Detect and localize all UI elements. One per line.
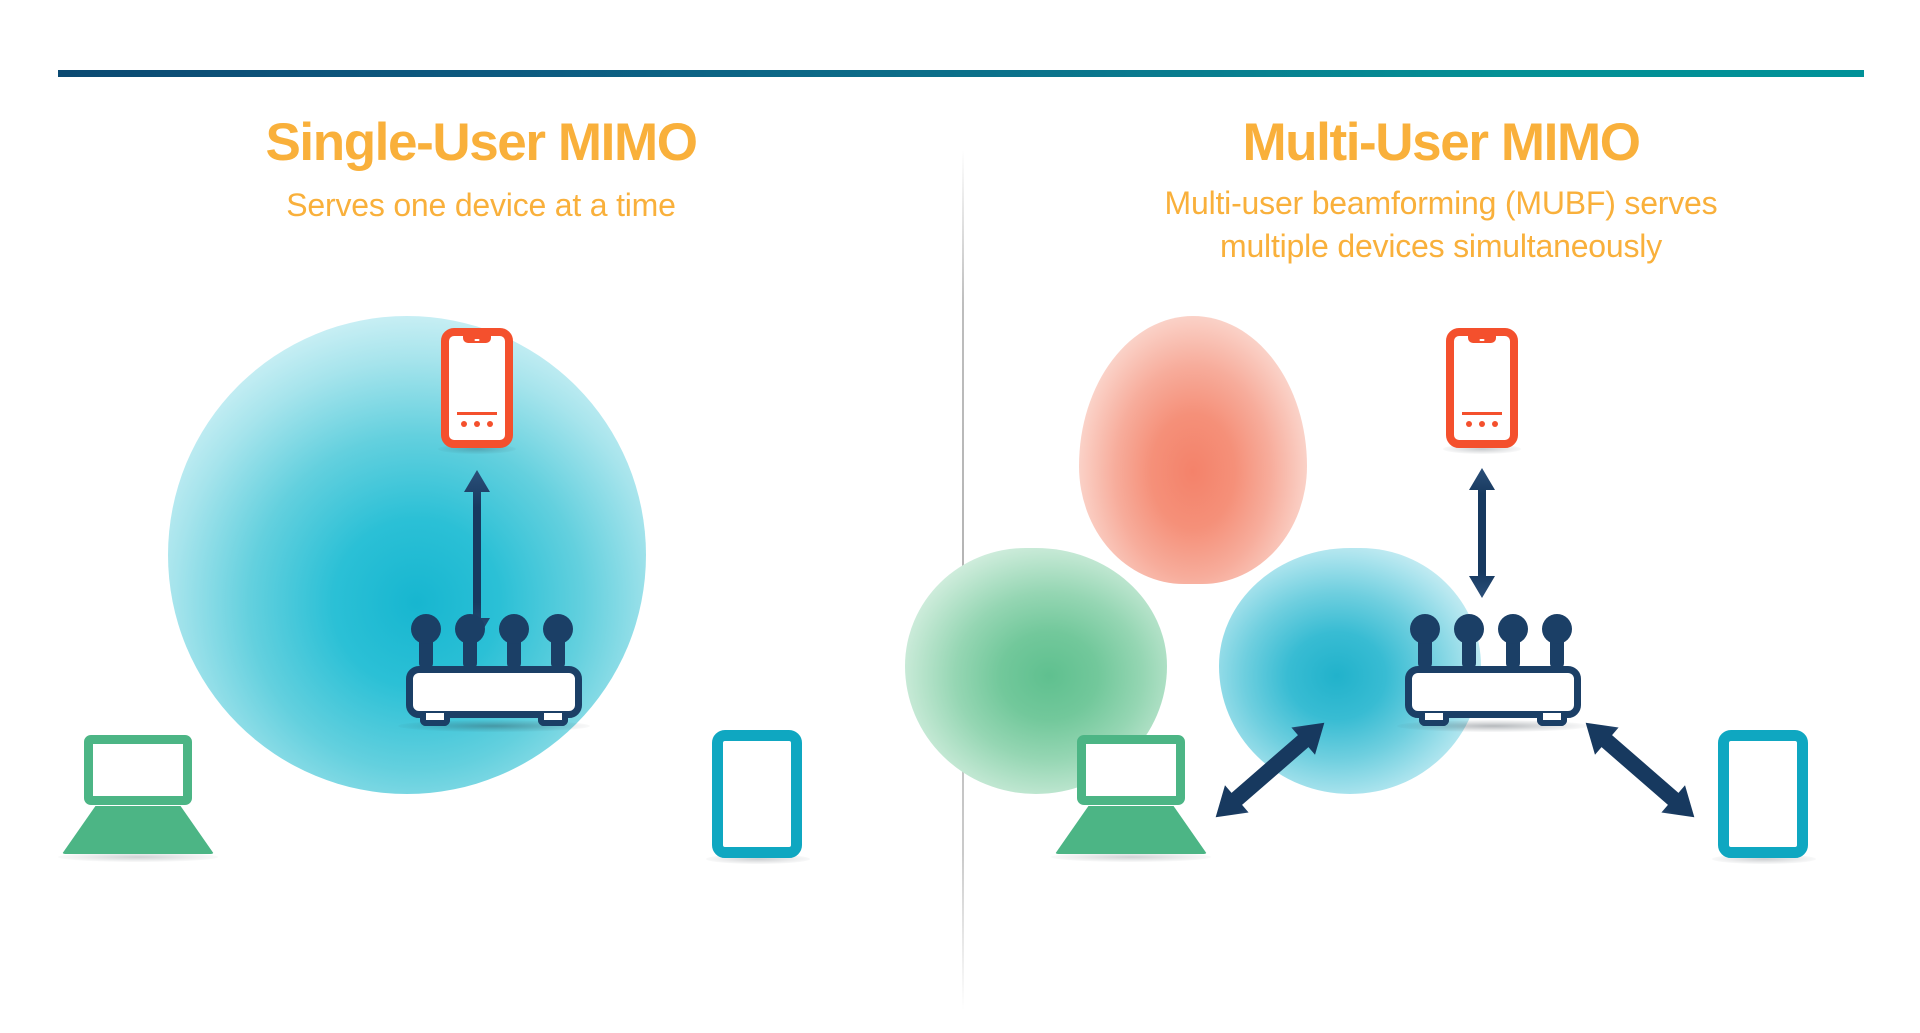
right-smartphone-button-bar xyxy=(1462,412,1502,432)
left-laptop-base xyxy=(62,806,214,854)
right-router-device xyxy=(1405,610,1581,726)
right-router-foot-right xyxy=(1537,713,1567,726)
left-smartphone-button-bar xyxy=(457,412,497,432)
left-router-body xyxy=(406,666,582,718)
left-router-antenna-3 xyxy=(507,618,521,670)
top-gradient-rule xyxy=(58,70,1864,77)
diagram-canvas: Single-User MIMO Serves one device at a … xyxy=(0,0,1920,1033)
left-router-antenna-2 xyxy=(463,618,477,670)
left-panel-subtitle: Serves one device at a time xyxy=(0,184,962,227)
left-smartphone-screen xyxy=(441,328,513,448)
right-panel-subtitle: Multi-user beamforming (MUBF) serves mul… xyxy=(962,182,1920,267)
left-router-antenna-4 xyxy=(551,618,565,670)
right-router-antenna-3 xyxy=(1506,618,1520,670)
right-tablet-home-button-icon xyxy=(1759,836,1767,844)
right-router-body xyxy=(1405,666,1581,718)
left-tablet-device xyxy=(712,730,802,858)
right-smartphone-screen xyxy=(1446,328,1518,448)
left-router-antenna-1 xyxy=(419,618,433,670)
left-panel-title: Single-User MIMO xyxy=(0,115,962,170)
left-router-device xyxy=(406,610,582,726)
right-panel-subtitle-line2: multiple devices simultaneously xyxy=(962,225,1920,268)
left-tablet-screen xyxy=(712,730,802,858)
right-router-antenna-1 xyxy=(1418,618,1432,670)
left-router-foot-right xyxy=(538,713,568,726)
left-smartphone-notch xyxy=(463,336,491,343)
right-tablet-screen xyxy=(1718,730,1808,858)
left-laptop-screen xyxy=(84,735,192,805)
right-panel-subtitle-line1: Multi-user beamforming (MUBF) serves xyxy=(962,182,1920,225)
right-link-arrow-router-to-phone xyxy=(1460,468,1504,598)
right-link-arrow-router-to-laptop xyxy=(1190,700,1350,840)
left-laptop-device xyxy=(62,735,214,859)
right-router-antenna-4 xyxy=(1550,618,1564,670)
right-smartphone-device xyxy=(1446,328,1518,448)
right-smartphone-notch xyxy=(1468,336,1496,343)
left-tablet-home-button-icon xyxy=(753,836,761,844)
right-link-arrow-router-to-tablet xyxy=(1560,700,1720,840)
right-router-antenna-2 xyxy=(1462,618,1476,670)
right-laptop-screen xyxy=(1077,735,1185,805)
right-laptop-base xyxy=(1055,806,1207,854)
beam-lobe-red-smartphone xyxy=(1079,316,1307,584)
left-smartphone-device xyxy=(441,328,513,448)
left-panel-header: Single-User MIMO Serves one device at a … xyxy=(0,115,962,227)
right-router-foot-left xyxy=(1419,713,1449,726)
right-panel-header: Multi-User MIMO Multi-user beamforming (… xyxy=(962,115,1920,267)
left-router-foot-left xyxy=(420,713,450,726)
right-tablet-device xyxy=(1718,730,1808,858)
right-laptop-device xyxy=(1055,735,1207,859)
right-panel-title: Multi-User MIMO xyxy=(962,115,1920,170)
